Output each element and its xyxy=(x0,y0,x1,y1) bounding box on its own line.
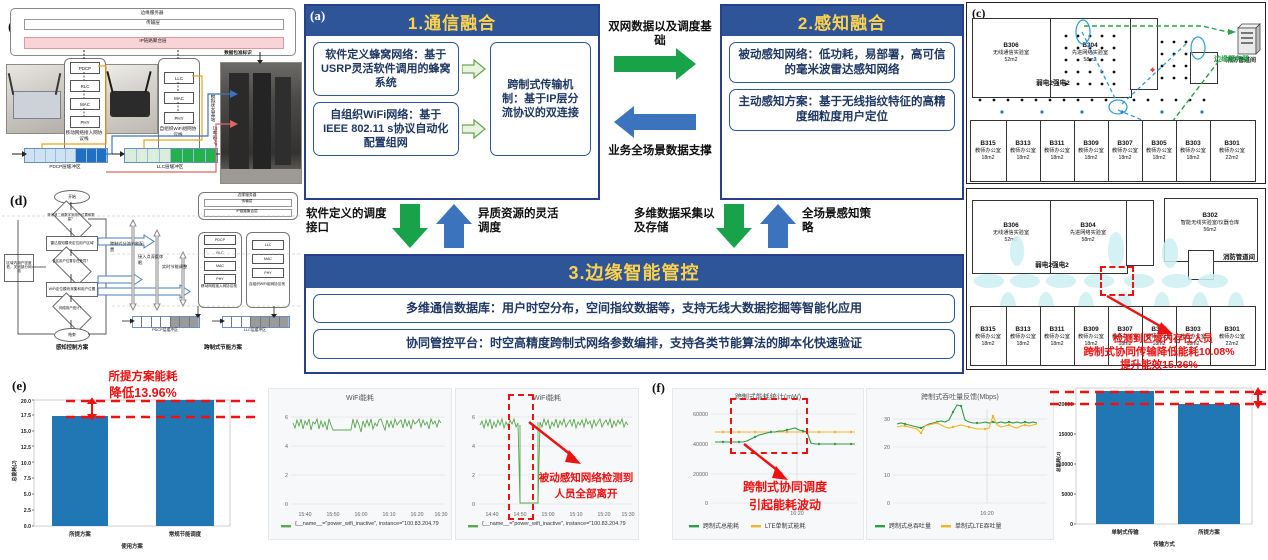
comm-cross-rat-box: 跨制式传输机制：基于IP层分流协议的双连接 xyxy=(490,42,591,156)
room-b307-code: B307 xyxy=(1117,140,1132,147)
f-throughput-chart: 跨制式吞吐量反馈(Mbps) 3020 100 xyxy=(866,388,1054,540)
llc-buffer xyxy=(124,148,218,163)
svg-text:0.0: 0.0 xyxy=(24,524,31,530)
svg-text:2.5: 2.5 xyxy=(24,508,31,514)
b-room-b313-area: 18m2 xyxy=(1017,341,1030,347)
f-throughput-legend-2: 单制式LTE吞吐量 xyxy=(955,521,1002,530)
heat-blob-4 xyxy=(1010,274,1040,288)
panel-e-barchart: (e) 所提方案能耗 降低13.96% 0.02.55.0 7.510.012.… xyxy=(4,376,262,558)
sensing-sub-2: 主动感知方案：基于无线指纹特征的高精度细粒度用户定位 xyxy=(729,89,955,130)
comm-fusion-title: 1.通信融合 xyxy=(306,6,598,36)
b-room-b315-code: B315 xyxy=(980,326,995,333)
svg-text:16:20: 16:20 xyxy=(980,511,994,517)
room-b311-area: 18m2 xyxy=(1051,155,1064,161)
svg-text:17.5: 17.5 xyxy=(21,413,31,419)
room-b305-name: 教师办公室 xyxy=(1146,148,1172,154)
svg-text:6: 6 xyxy=(285,415,288,421)
svg-text:15:50: 15:50 xyxy=(327,512,340,518)
svg-text:40000: 40000 xyxy=(693,442,708,448)
svg-text:总能耗(J): 总能耗(J) xyxy=(11,460,18,481)
d-stack-phy: PHY xyxy=(204,274,236,284)
room-b315-code: B315 xyxy=(980,140,995,147)
blue-arrow-up-left xyxy=(436,204,472,248)
stack-rlc: RLC xyxy=(70,80,100,92)
f-power-annotation-line2: 引起能耗波动 xyxy=(700,496,870,513)
svg-text:20.0: 20.0 xyxy=(21,399,31,405)
svg-text:单制式传输: 单制式传输 xyxy=(1112,528,1140,536)
room-b303-name: 教师办公室 xyxy=(1180,148,1206,154)
svg-text:所提方案: 所提方案 xyxy=(69,530,91,538)
wifi-chart-2-svg: 6420 14:4014:5015:00 15:1015:2015:30 xyxy=(456,389,638,539)
heat-blob-3 xyxy=(974,274,1004,288)
svg-text:总能耗(J): 总能耗(J) xyxy=(1055,451,1062,472)
room-b301-code: B301 xyxy=(1224,140,1239,147)
svg-text:传输方式: 传输方式 xyxy=(1152,540,1175,548)
heat-blob-10 xyxy=(1162,238,1178,268)
data-flag-label: 数据包准标识 xyxy=(198,50,278,56)
svg-text:16:30: 16:30 xyxy=(435,512,448,518)
svg-text:5.0: 5.0 xyxy=(24,492,31,498)
heat-blob-8 xyxy=(1162,274,1192,288)
svg-text:16:10: 16:10 xyxy=(383,512,396,518)
d-pdcp-buffer xyxy=(132,316,200,328)
f-power-annotation-line1: 跨制式协同调度 xyxy=(700,478,870,495)
svg-text:常规节能调度: 常规节能调度 xyxy=(169,530,202,538)
d-ip-label: IP链路聚合层 xyxy=(204,209,290,214)
room-b302-code: B302 xyxy=(1202,212,1217,219)
wifi-2-annotation-line2: 人员全部离开 xyxy=(520,486,652,501)
room-b309-name: 教师办公室 xyxy=(1078,148,1104,154)
flow-decision-2-label: 该区用户位置存在差异？ xyxy=(46,260,96,264)
wifi-chart-1-svg: 6420 15:4015:5016:00 16:1016:2016:30 xyxy=(269,389,451,539)
f-power-legend-2: LTE单制式能耗 xyxy=(765,521,806,530)
svg-text:20: 20 xyxy=(884,445,890,451)
lower-label-2: 异质资源的灵活调度 xyxy=(478,207,564,236)
svg-text:15.0: 15.0 xyxy=(21,429,31,435)
usrp-photo xyxy=(6,64,66,134)
svg-text:4: 4 xyxy=(285,444,288,450)
stack-llc: LLC xyxy=(164,72,194,84)
b-room-b313-name: 教师办公室 xyxy=(1010,334,1036,340)
comm-sub-1: 软件定义蜂窝网络：基于USRP灵活软件调用的蜂窝系统 xyxy=(313,42,459,96)
room-b315-area: 18m2 xyxy=(982,155,995,161)
d-wifi-caption: 自组织WiFi组网协议栈 xyxy=(246,282,288,287)
wifi-chart-2-legend: {__name__="power_wifi_inactive", instanc… xyxy=(482,521,632,527)
room-b306b-name: 无线通信实验室 xyxy=(993,230,1029,236)
ap-label-1: 模拟状态基站 xyxy=(196,94,216,122)
panel-d-flow: (d) 开始 毫米波二维数字到用户位置和数量？ 雷达感知模块定位用户区域 该区用… xyxy=(2,188,302,370)
flow-node-shutdown: 区域内用户密度低，关闭部分网络 xyxy=(4,254,34,282)
ip-layer-label: IP链路聚合层 xyxy=(24,38,282,44)
flow-node-radar: 雷达感知模块定位用户区域 xyxy=(46,236,98,251)
room-b313-area: 18m2 xyxy=(1017,155,1030,161)
d-llc-buffer xyxy=(222,316,290,328)
panel-b-testbed: (b) 边缘服务器 传输层 IP链路聚合层 数据包准标识 PDCP RLC MA… xyxy=(2,2,302,184)
stack-phy: PHY xyxy=(70,116,100,128)
svg-text:15:40: 15:40 xyxy=(299,512,312,518)
e-bar-2 xyxy=(156,400,214,526)
d-llc-buffer-label: LLC层缓冲区 xyxy=(222,328,288,333)
heat-blob-1 xyxy=(1010,236,1024,266)
b-room-b313-code: B313 xyxy=(1015,326,1030,333)
room-b303-area: 18m2 xyxy=(1187,155,1200,161)
room-b313-code: B313 xyxy=(1015,140,1030,147)
d-stack-rlc: RLC xyxy=(204,248,236,258)
svg-text:5000: 5000 xyxy=(1061,492,1073,498)
svg-text:2: 2 xyxy=(285,473,288,479)
flow-caption-right: 跨制式节能方案 xyxy=(178,343,268,351)
stack-mac: MAC xyxy=(70,98,100,110)
flow-decision-3-label: 网络用户统计？ xyxy=(46,307,96,311)
stairwell-bottom xyxy=(1126,200,1154,266)
room-b307-area: 18m2 xyxy=(1119,155,1132,161)
svg-text:15:10: 15:10 xyxy=(570,512,583,518)
d-stack-wifi-phy: PHY xyxy=(252,268,284,278)
person-marker-top: ✧ xyxy=(1150,67,1155,74)
blue-arrow-left xyxy=(614,106,696,138)
edge-sub-1: 多维通信数据库：用户时空分布，空间指纹数据等，支持无线大数据挖掘等智能化应用 xyxy=(313,294,955,323)
heat-blob-2 xyxy=(1108,232,1124,268)
room-b313-name: 教师办公室 xyxy=(1010,148,1036,154)
green-arrow-down-right xyxy=(716,204,752,248)
room-b304b-code: B304 xyxy=(1080,222,1095,229)
panel-d-tag: (d) xyxy=(10,194,27,210)
stack-wifi-mac: MAC xyxy=(164,92,194,104)
d-stack-pdcp: PDCP xyxy=(204,235,236,245)
room-b305-code: B305 xyxy=(1151,140,1166,147)
green-chevron-icon-2 xyxy=(462,119,486,139)
edge-intelligence-box: 3.边缘智能管控 多维通信数据库：用户时空分布，空间指纹数据等，支持无线大数据挖… xyxy=(304,254,964,374)
svg-text:0: 0 xyxy=(1070,522,1073,528)
svg-text:0: 0 xyxy=(285,502,288,508)
svg-text:60000: 60000 xyxy=(693,412,708,418)
d-transport-label: 传输层 xyxy=(204,199,290,204)
room-b302-area: 56m2 xyxy=(1204,227,1217,233)
figure-page: (b) 边缘服务器 传输层 IP链路聚合层 数据包准标识 PDCP RLC MA… xyxy=(0,0,1268,560)
svg-text:30: 30 xyxy=(884,417,890,423)
svg-text:15:30: 15:30 xyxy=(622,512,635,518)
room-b305-area: 18m2 xyxy=(1153,155,1166,161)
edge-server-icon xyxy=(1238,24,1260,54)
sensing-fusion-title: 2.感知融合 xyxy=(722,6,962,36)
room-b306b-code: B306 xyxy=(1003,222,1018,229)
f-power-highlight-box xyxy=(730,398,808,454)
room-b301-area: 22m2 xyxy=(1226,155,1239,161)
d-blue-label-3: 实时节能调整 xyxy=(162,264,190,270)
green-arrow-right xyxy=(614,48,696,80)
svg-text:2: 2 xyxy=(472,473,475,479)
room-b304b-area: 58m2 xyxy=(1082,237,1095,243)
floorplan-top-bottom-rooms: B315 教师办公室 18m2 B313 教师办公室 18m2 B311 教师办… xyxy=(970,120,1262,180)
svg-text:14:40: 14:40 xyxy=(486,512,499,518)
blue-arrow-up-right xyxy=(760,204,796,248)
center-label-top: 双网数据以及调度基础 xyxy=(604,20,716,49)
lower-label-1: 软件定义的调度接口 xyxy=(306,207,392,236)
d-blue-label-1: 跨制式分流节能配置 xyxy=(110,241,146,253)
panel-a-architecture: (a) 1.通信融合 软件定义蜂窝网络：基于USRP灵活软件调用的蜂窝系统 自组… xyxy=(304,4,960,370)
svg-text:使用方案: 使用方案 xyxy=(120,542,143,550)
flow-caption-left: 感知控制方案 xyxy=(42,343,102,351)
ap-label-2: 功率器AP xyxy=(198,126,218,146)
panel-f-tag: (f) xyxy=(652,380,665,396)
b-room-b315-area: 18m2 xyxy=(982,341,995,347)
flow-end: 结束 xyxy=(54,328,90,342)
e-chart-svg: 0.02.55.0 7.510.012.5 15.017.520.0 xyxy=(4,376,262,558)
room-b309-area: 18m2 xyxy=(1085,155,1098,161)
svg-text:6: 6 xyxy=(472,415,475,421)
f-power-legend-1: 跨制式总能耗 xyxy=(703,521,739,530)
fire-corridor-label-bottom: 消防管道间 xyxy=(1214,254,1264,262)
d-stack-mac: MAC xyxy=(204,261,236,271)
svg-text:15000: 15000 xyxy=(1059,432,1074,438)
edge-server-label: 边缘服务器 xyxy=(10,10,294,16)
panel-c-floorplan-top: (c) B306 无线通信实验室 52m2 B304 先进网络实验室 58m2 … xyxy=(966,2,1266,184)
lower-label-3: 多维数据采集以及存储 xyxy=(634,207,720,236)
f-throughput-legend-1: 跨制式总吞吐量 xyxy=(889,521,931,530)
d-stack-llc: LLC xyxy=(252,240,284,250)
room-b303-code: B303 xyxy=(1185,140,1200,147)
cell-stack-caption: 移动网络接入网协议栈 xyxy=(64,130,104,142)
stack-wifi-phy: PHY xyxy=(164,112,194,124)
svg-text:10.0: 10.0 xyxy=(21,461,31,467)
flow-node-wifi: WiFi定位模块采集和用户位置 xyxy=(46,282,98,297)
wifi-chart-2: WiFi能耗 6420 14:4014:5015:00 15:1015:2015… xyxy=(455,388,639,540)
center-label-bottom: 业务全场景数据支撑 xyxy=(604,144,716,158)
f-throughput-chart-svg: 3020 100 16:20 xyxy=(867,389,1053,539)
sensing-fusion-box: 2.感知融合 被动感知网络：低功耗，易部署，高可信的毫米波雷达感知网络 主动感知… xyxy=(720,4,964,200)
comm-fusion-box: 1.通信融合 软件定义蜂窝网络：基于USRP灵活软件调用的蜂窝系统 自组织WiF… xyxy=(304,4,600,200)
detection-highlight-box xyxy=(1100,266,1134,296)
flow-decision-3 xyxy=(52,292,92,332)
f-bar-2 xyxy=(1178,404,1240,524)
weak-power-label-bottom: 弱电2强电2 xyxy=(1026,262,1078,270)
svg-text:16:20: 16:20 xyxy=(411,512,424,518)
svg-text:16:00: 16:00 xyxy=(355,512,368,518)
svg-text:7.5: 7.5 xyxy=(24,476,31,482)
flow-start: 开始 xyxy=(54,190,90,204)
svg-text:12.5: 12.5 xyxy=(21,445,31,451)
llc-buffer-label: LLC层缓冲区 xyxy=(124,164,216,170)
svg-text:15:00: 15:00 xyxy=(542,512,555,518)
wifi-2-highlight-box xyxy=(508,394,534,520)
room-b315-name: 教师办公室 xyxy=(975,148,1001,154)
pdcp-buffer-label: PDCP层缓冲区 xyxy=(24,164,106,170)
room-b309-code: B309 xyxy=(1083,140,1098,147)
wifi-chart-1: WiFi能耗 6420 15:4015:5016:00 16:1016:2016… xyxy=(268,388,452,540)
room-b301-name: 教师办公室 xyxy=(1219,148,1245,154)
edge-sub-2: 协同管控平台：时空高精度跨制式网络参数编排，支持各类节能算法的脚本化快速验证 xyxy=(313,329,955,358)
panel-a-tag: (a) xyxy=(310,8,325,24)
green-chevron-icon-1 xyxy=(462,59,486,79)
svg-text:15:20: 15:20 xyxy=(598,512,611,518)
wifi-2-annotation-line1: 被动感知网络检测到 xyxy=(520,470,652,485)
f-bar-chart: 0500010000 1500020000 单制式传输 所提方案 传输 xyxy=(1050,370,1268,560)
room-b302-name: 智能无线实验室/仪器仓库 xyxy=(1181,220,1240,226)
d-pdcp-buffer-label: PDCP层缓冲区 xyxy=(132,328,198,333)
e-bar-1 xyxy=(52,416,108,526)
edge-server-green-label: 边缘服务器 xyxy=(1214,54,1249,64)
wifi-router-photo xyxy=(102,64,158,134)
d-cell-caption: 移动网络接入网协议栈 xyxy=(198,284,240,289)
pdcp-buffer xyxy=(24,148,108,163)
detection-annotation: 检测到区域内存在人员 xyxy=(1060,330,1266,345)
server-rack-photo xyxy=(220,62,302,184)
wifi-chart-1-legend: {__name__="power_wifi_inactive", instanc… xyxy=(295,521,445,527)
svg-text:10: 10 xyxy=(884,473,890,479)
svg-text:4: 4 xyxy=(472,444,475,450)
green-arrow-down-left xyxy=(392,204,428,248)
svg-text:0: 0 xyxy=(472,502,475,508)
f-bar-chart-svg: 0500010000 1500020000 单制式传输 所提方案 传输 xyxy=(1050,370,1268,560)
f-bar-1 xyxy=(1096,391,1154,524)
flow-decision-1-label: 毫米波二维数字到用户位置和数量？ xyxy=(46,214,96,221)
room-b311-code: B311 xyxy=(1050,140,1065,147)
lower-label-4: 全场景感知策略 xyxy=(802,207,878,236)
comm-sub-2: 自组织WiFi网络：基于IEEE 802.11 s协议自动化配置组网 xyxy=(313,102,459,156)
b-room-b315-name: 教师办公室 xyxy=(975,334,1001,340)
stack-pdcp: PDCP xyxy=(70,62,100,74)
sensing-sub-1: 被动感知网络：低功耗，易部署，高可信的毫米波雷达感知网络 xyxy=(729,42,955,83)
wifi-stack-caption: 自组织WiFi组网协议栈 xyxy=(158,126,198,138)
svg-text:所提方案: 所提方案 xyxy=(1198,528,1220,536)
room-b311-name: 教师办公室 xyxy=(1044,148,1070,154)
room-b302-label: B302 智能无线实验室/仪器仓库 56m2 xyxy=(1164,212,1256,233)
d-edge-server-label: 边缘服务器 xyxy=(198,193,296,198)
room-b307-name: 教师办公室 xyxy=(1112,148,1138,154)
transport-layer-label: 传输层 xyxy=(24,20,282,26)
svg-text:0: 0 xyxy=(887,501,890,507)
edge-intelligence-title: 3.边缘智能管控 xyxy=(306,256,962,288)
flow-decision-2 xyxy=(52,246,92,286)
d-stack-wifi-mac: MAC xyxy=(252,254,284,264)
room-b304b-name: 先进网络实验室 xyxy=(1070,230,1106,236)
heat-blob-9 xyxy=(1198,274,1228,288)
heat-blob-5 xyxy=(1046,274,1076,288)
